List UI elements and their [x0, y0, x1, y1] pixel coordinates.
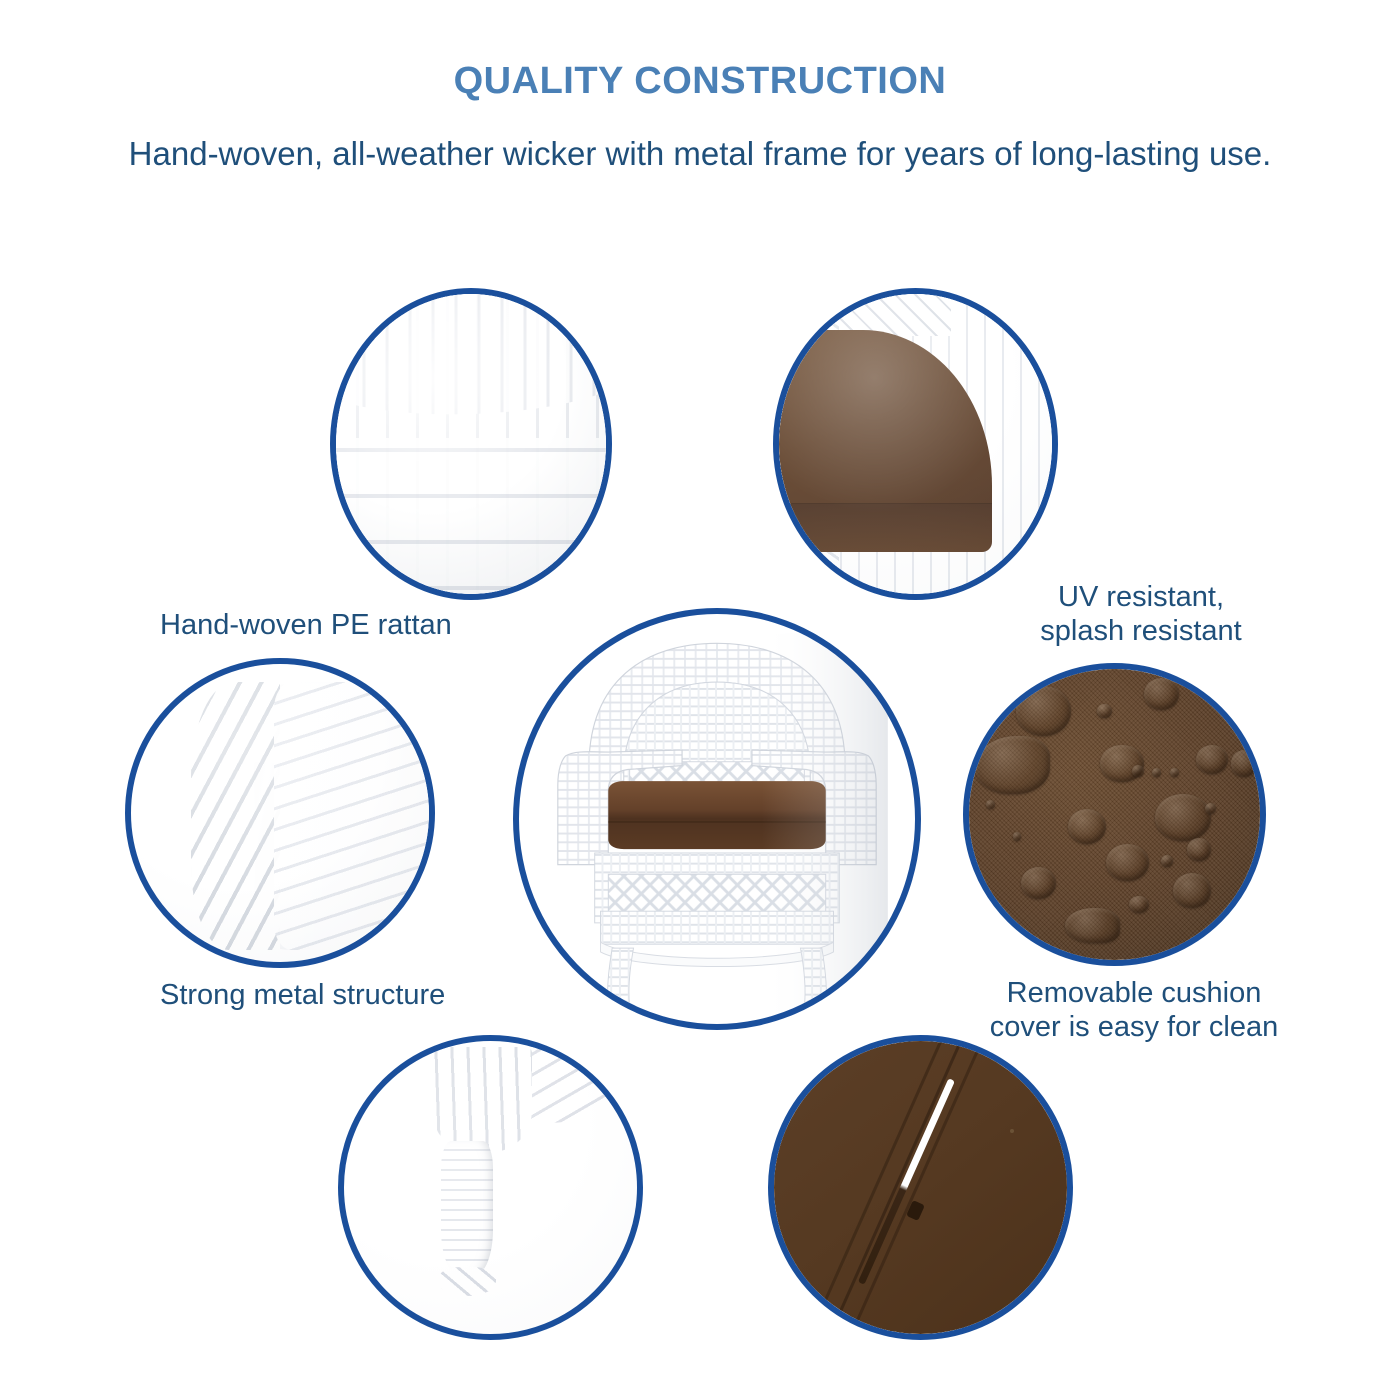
page-subtitle: Hand-woven, all-weather wicker with meta…: [0, 135, 1400, 173]
caption-strong-metal-structure: Strong metal structure: [160, 978, 445, 1012]
armchair-illustration: [519, 614, 915, 1024]
cushion-zipper-image: [774, 1041, 1067, 1334]
feature-circle-cushion-zipper: [768, 1035, 1073, 1340]
feature-circle-strong-metal-structure: [125, 658, 435, 968]
feature-circle-uv-splash-resistant: [773, 288, 1058, 600]
feature-circle-chair-leg: [338, 1035, 643, 1340]
caption-uv-splash-resistant: UV resistant, splash resistant: [1010, 580, 1272, 648]
chair-leg-image: [344, 1041, 637, 1334]
rattan-weave-image: [336, 294, 606, 594]
caption-removable-cushion-cover: Removable cushion cover is easy for clea…: [966, 976, 1302, 1044]
page-title: QUALITY CONSTRUCTION: [0, 60, 1400, 103]
caption-hand-woven-pe-rattan: Hand-woven PE rattan: [160, 608, 452, 642]
wicker-armchair-image: [519, 614, 915, 1024]
feature-circle-main-product: [513, 608, 921, 1030]
feature-circle-water-repellent: [963, 663, 1266, 966]
feature-circle-hand-woven-pe-rattan: [330, 288, 612, 600]
header: QUALITY CONSTRUCTION Hand-woven, all-wea…: [0, 0, 1400, 173]
water-droplets-image: [969, 669, 1260, 960]
cushion-closeup-image: [779, 294, 1052, 594]
metal-frame-corner-image: [131, 664, 429, 962]
